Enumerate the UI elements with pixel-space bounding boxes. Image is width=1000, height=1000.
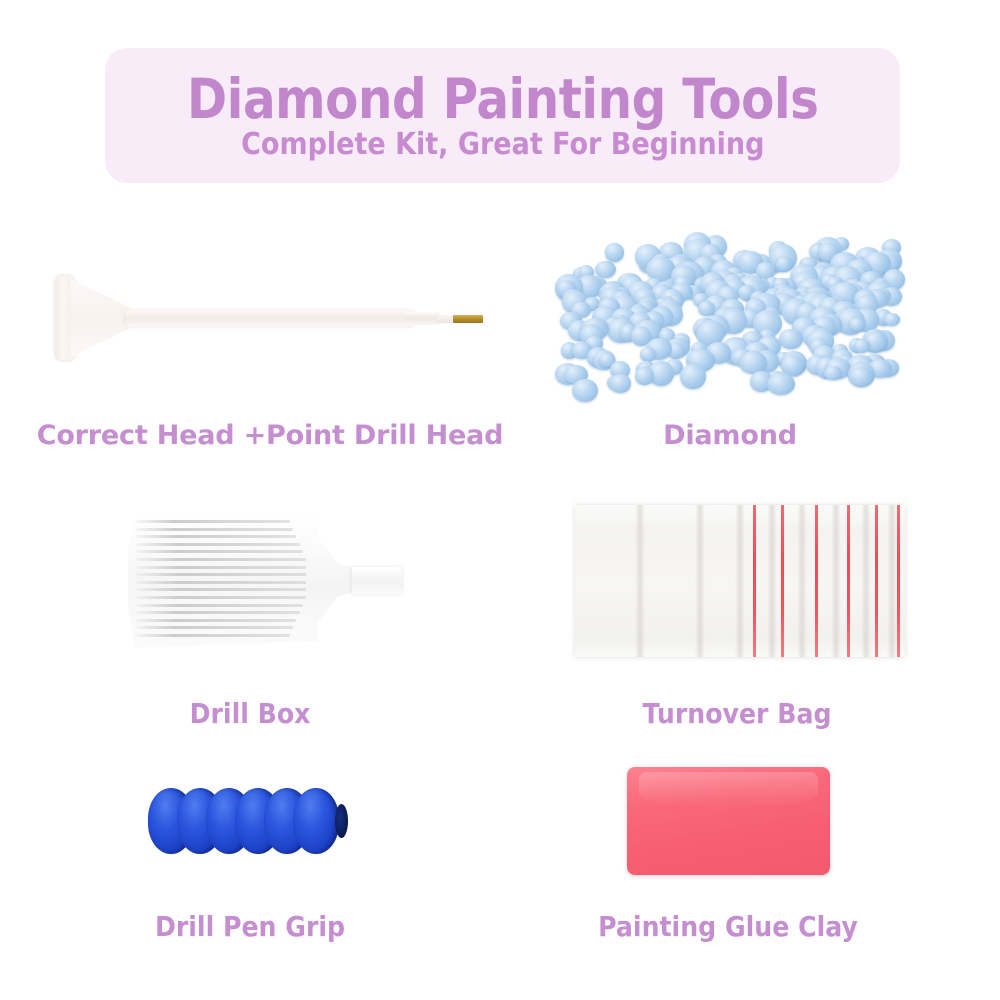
- product-image-painting-glue-clay: [627, 767, 830, 875]
- turnover-bag-fold: [831, 505, 841, 657]
- diamond-bead: [610, 374, 630, 392]
- drill-box-groove: [136, 550, 303, 553]
- product-label-drill-pen-grip: Drill Pen Grip: [25, 910, 475, 943]
- diamond-pile-illustration: [565, 245, 895, 395]
- diamond-bead: [698, 301, 715, 316]
- page-subtitle: Complete Kit, Great For Beginning: [241, 129, 764, 161]
- drill-box-groove: [136, 604, 303, 607]
- header-banner: Diamond Painting Tools Complete Kit, Gre…: [105, 48, 900, 183]
- product-image-diamond: [565, 245, 895, 395]
- drill-box-groove: [136, 596, 306, 599]
- drill-box-groove: [136, 573, 312, 576]
- product-image-turnover-bag: [575, 505, 905, 657]
- turnover-bag-illustration: [575, 505, 905, 657]
- diamond-bead: [767, 373, 794, 395]
- pen-illustration: [55, 270, 495, 370]
- turnover-bag-stripe: [753, 505, 756, 657]
- turnover-bag-stripe: [847, 505, 850, 657]
- page-title: Diamond Painting Tools: [187, 71, 818, 127]
- diamond-bead: [854, 339, 870, 353]
- glue-clay-illustration: [627, 767, 830, 875]
- drill-box-handle-shape: [352, 567, 402, 594]
- turnover-bag-stripe: [897, 505, 900, 657]
- drill-pen-grip-segment: [293, 788, 339, 854]
- drill-box-groove: [136, 634, 290, 637]
- diamond-bead: [605, 243, 625, 262]
- diamond-bead: [640, 347, 657, 362]
- turnover-bag-fold: [861, 505, 871, 657]
- diamond-bead: [635, 367, 653, 384]
- drill-box-groove: [136, 520, 290, 523]
- product-image-correct-head-point-drill-head: [55, 270, 495, 370]
- drill-box-groove: [136, 535, 296, 538]
- drill-box-groove: [136, 588, 309, 591]
- drill-box-groove: [136, 558, 306, 561]
- product-image-drill-pen-grip: [148, 788, 348, 858]
- turnover-bag-fold: [887, 505, 897, 657]
- pen-barrel-shape: [125, 310, 415, 327]
- pen-collar-shape: [405, 312, 441, 325]
- drill-pen-grip-endcap: [335, 804, 348, 838]
- drill-pen-grip-illustration: [148, 788, 348, 858]
- product-label-turnover-bag: Turnover Bag: [512, 697, 962, 730]
- drill-box-groove: [136, 626, 293, 629]
- product-label-drill-box: Drill Box: [25, 697, 475, 730]
- drill-box-neck-shape: [306, 522, 358, 638]
- turnover-bag-fold: [767, 505, 777, 657]
- pen-gold-point-drill-tip: [453, 315, 483, 323]
- glue-clay-block-shape: [627, 767, 830, 875]
- diamond-bead: [680, 364, 706, 388]
- diamond-bead: [824, 366, 841, 380]
- turnover-bag-stripe: [781, 505, 784, 657]
- diamond-bead: [776, 257, 792, 271]
- drill-box-groove: [136, 581, 312, 584]
- pen-flare-shape: [71, 279, 129, 357]
- product-label-painting-glue-clay: Painting Glue Clay: [503, 910, 953, 943]
- turnover-bag-fold: [635, 505, 645, 657]
- drill-box-groove: [136, 611, 300, 614]
- product-image-drill-box: [128, 500, 403, 660]
- turnover-bag-stripe: [875, 505, 878, 657]
- turnover-bag-fold: [797, 505, 807, 657]
- diamond-bead: [779, 329, 803, 350]
- diamond-bead: [884, 313, 901, 327]
- turnover-bag-fold: [695, 505, 705, 657]
- drill-box-illustration: [128, 500, 403, 660]
- product-label-correct-head-point-drill-head: Correct Head +Point Drill Head: [20, 420, 520, 451]
- drill-box-groove: [136, 619, 296, 622]
- glue-clay-gloss-highlight: [639, 772, 818, 807]
- drill-box-groove: [136, 566, 309, 569]
- drill-box-groove: [136, 543, 300, 546]
- product-label-diamond: Diamond: [480, 420, 980, 451]
- turnover-bag-stripe: [815, 505, 818, 657]
- turnover-bag-fold: [735, 505, 745, 657]
- diamond-bead: [572, 379, 598, 402]
- drill-box-groove: [136, 528, 293, 531]
